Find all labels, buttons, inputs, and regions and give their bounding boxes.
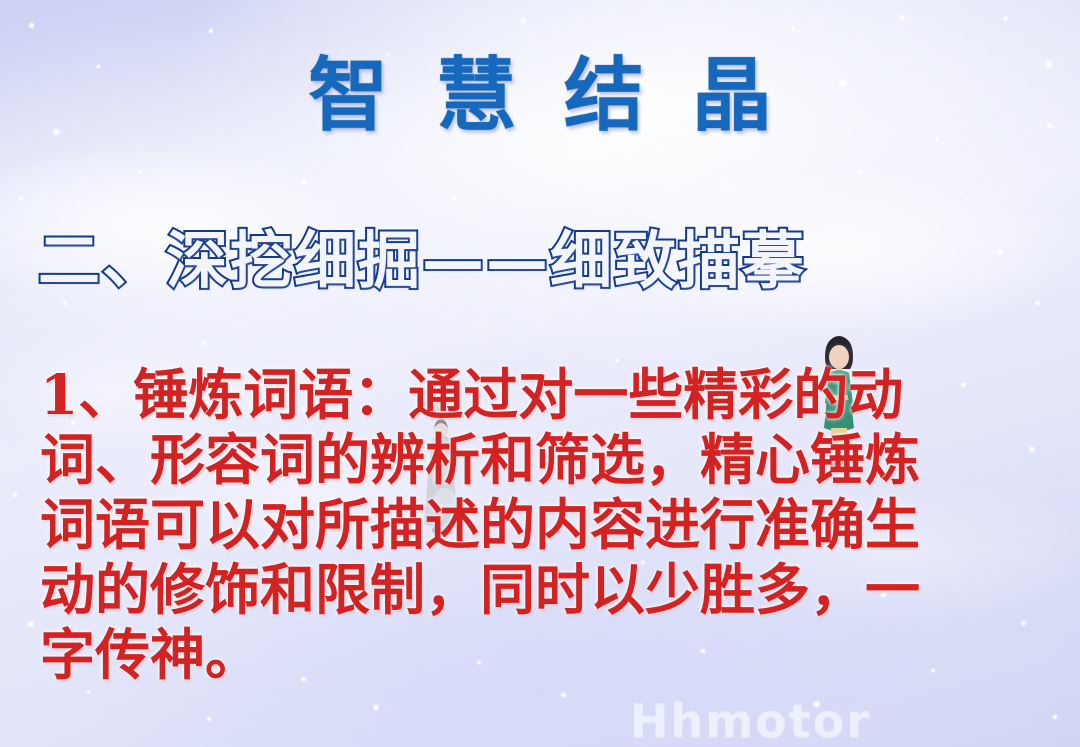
slide-body-text: 1、锤炼词语：通过对一些精彩的动 词、形容词的辨析和筛选，精心锤炼 词语可以对所… <box>40 362 1050 687</box>
slide-subtitle: 二、深挖细掘——细致描摹 <box>38 228 1038 293</box>
presentation-slide: 智 慧 结 晶 二、深挖细掘——细致描摹 1、锤炼词语：通过对一些精彩的动 词、… <box>0 0 1080 747</box>
watermark: Hhmotor <box>630 694 871 747</box>
slide-title: 智 慧 结 晶 <box>0 56 1080 136</box>
